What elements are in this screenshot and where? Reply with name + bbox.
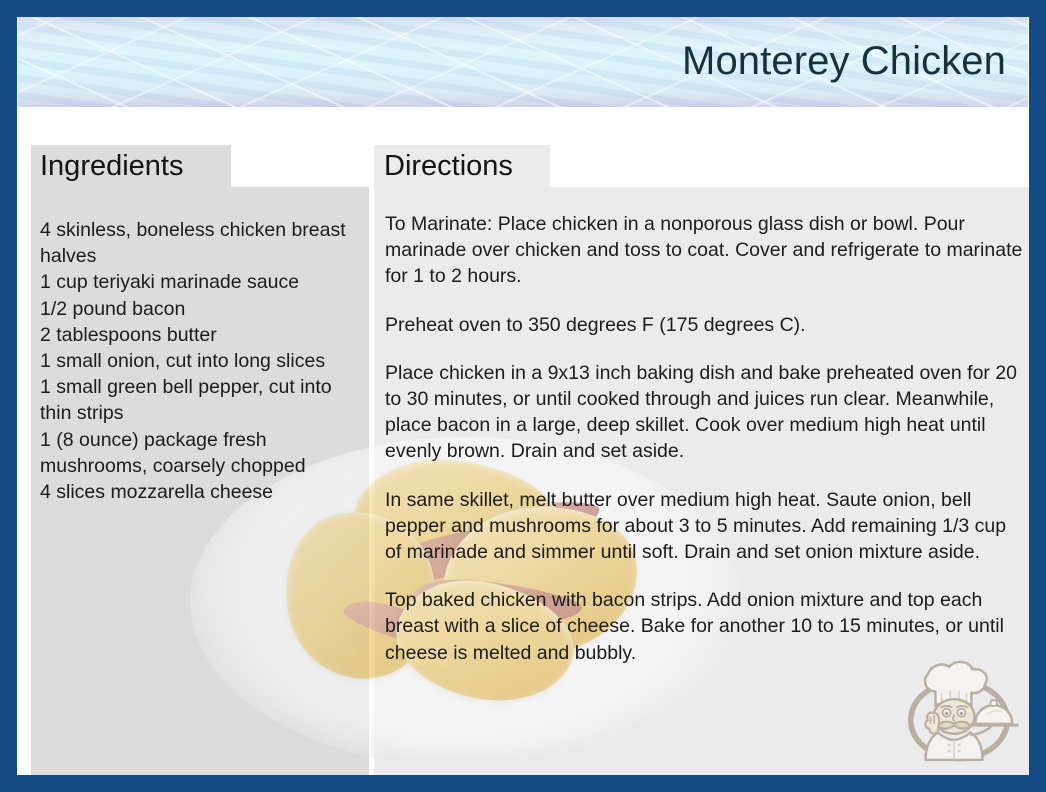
ingredients-heading-label: Ingredients: [40, 152, 184, 181]
direction-step: Preheat oven to 350 degrees F (175 degre…: [385, 312, 1025, 338]
list-item: 2 tablespoons butter: [40, 322, 361, 348]
ingredients-panel: 4 skinless, boneless chicken breast halv…: [31, 187, 369, 792]
direction-step: In same skillet, melt butter over medium…: [385, 487, 1025, 566]
recipe-card: Monterey Chicken Ingredients Directions …: [0, 0, 1046, 792]
section-header-ingredients: Ingredients: [31, 145, 231, 187]
directions-text: To Marinate: Place chicken in a nonporou…: [374, 187, 1039, 666]
list-item: 4 skinless, boneless chicken breast halv…: [40, 217, 361, 269]
list-item: 4 slices mozzarella cheese: [40, 479, 361, 505]
direction-step: To Marinate: Place chicken in a nonporou…: [385, 211, 1025, 290]
section-header-directions: Directions: [374, 145, 550, 187]
ingredients-list: 4 skinless, boneless chicken breast halv…: [31, 187, 369, 505]
list-item: 1 small onion, cut into long slices: [40, 348, 361, 374]
list-item: 1 cup teriyaki marinade sauce: [40, 269, 361, 295]
directions-panel: To Marinate: Place chicken in a nonporou…: [374, 187, 1039, 792]
header-banner: Monterey Chicken: [18, 14, 1028, 107]
directions-heading-label: Directions: [384, 152, 513, 181]
list-item: 1 (8 ounce) package fresh mushrooms, coa…: [40, 427, 361, 479]
list-item: 1/2 pound bacon: [40, 296, 361, 322]
list-item: 1 small green bell pepper, cut into thin…: [40, 374, 361, 426]
page-title: Monterey Chicken: [682, 39, 1006, 83]
direction-step: Top baked chicken with bacon strips. Add…: [385, 587, 1025, 666]
direction-step: Place chicken in a 9x13 inch baking dish…: [385, 360, 1025, 465]
